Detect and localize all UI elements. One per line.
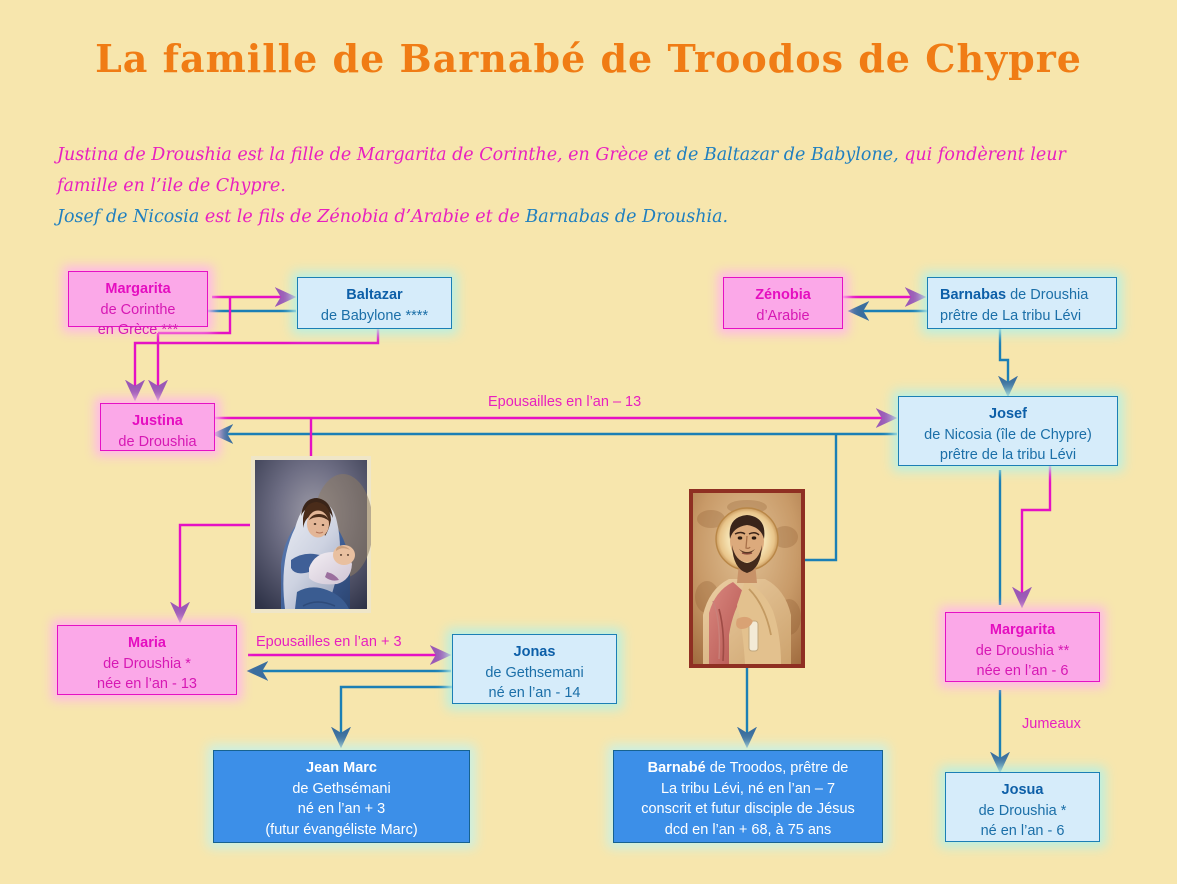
page-title: La famille de Barnabé de Troodos de Chyp… bbox=[0, 36, 1177, 81]
node-margarita-de-droushia[interactable]: Margarita de Droushia ** née en l’an - 6 bbox=[945, 612, 1100, 682]
node-name: Zénobia bbox=[732, 285, 834, 306]
edge-label-marriage-plus-3: Epousailles en l’an + 3 bbox=[256, 634, 402, 650]
node-name: Margarita bbox=[77, 279, 199, 300]
node-line2: d’Arabie bbox=[732, 306, 834, 327]
edge-label-marriage-minus-13: Epousailles en l’an – 13 bbox=[488, 394, 641, 410]
node-line3: prêtre de la tribu Lévi bbox=[907, 445, 1109, 466]
node-name: Josua bbox=[954, 780, 1091, 801]
node-line3: né en l’an + 3 bbox=[222, 799, 461, 820]
node-line4: (futur évangéliste Marc) bbox=[222, 820, 461, 841]
node-name: Josef bbox=[907, 404, 1109, 425]
node-line2: de Droushia * bbox=[954, 801, 1091, 822]
node-barnabas-de-droushia[interactable]: Barnabas de Droushia prêtre de La tribu … bbox=[927, 277, 1117, 329]
node-line2: de Droushia bbox=[109, 432, 206, 453]
node-line2: de Nicosia (île de Chypre) bbox=[907, 425, 1109, 446]
node-line3: né en l’an - 14 bbox=[461, 683, 608, 704]
node-margarita-de-corinthe[interactable]: Margarita de Corinthe en Grèce *** bbox=[68, 271, 208, 327]
node-line2: La tribu Lévi, né en l’an – 7 bbox=[622, 779, 874, 800]
node-line3: né en l’an - 6 bbox=[954, 821, 1091, 842]
node-line3: en Grèce *** bbox=[77, 320, 199, 341]
node-name: Margarita bbox=[954, 620, 1091, 641]
node-justina[interactable]: Justina de Droushia bbox=[100, 403, 215, 451]
intro-line1-part1: Justina de Droushia est la fille de Marg… bbox=[57, 145, 654, 165]
node-name-rest: de Droushia bbox=[1006, 287, 1088, 303]
intro-line2-part1: Josef de Nicosia bbox=[57, 207, 199, 227]
node-line3: née en l’an - 6 bbox=[954, 661, 1091, 682]
node-maria[interactable]: Maria de Droushia * née en l’an - 13 bbox=[57, 625, 237, 695]
node-jean-marc[interactable]: Jean Marc de Gethsémani né en l’an + 3 (… bbox=[213, 750, 470, 843]
node-baltazar[interactable]: Baltazar de Babylone **** bbox=[297, 277, 452, 329]
node-line1-rest: de Troodos, prêtre de bbox=[706, 760, 849, 776]
node-line1: Barnabé de Troodos, prêtre de bbox=[622, 758, 874, 779]
node-line2: de Gethsémani bbox=[222, 779, 461, 800]
node-name: Jean Marc bbox=[222, 758, 461, 779]
madonna-and-child-picture bbox=[251, 456, 371, 613]
intro-line1-part2: et de Baltazar de Babylone, bbox=[654, 145, 899, 165]
intro-line2-part2: est le fils de Zénobia d’Arabie et de bbox=[199, 207, 525, 227]
node-josua[interactable]: Josua de Droushia * né en l’an - 6 bbox=[945, 772, 1100, 842]
node-line2: prêtre de La tribu Lévi bbox=[940, 306, 1108, 327]
intro-line2-part3: Barnabas de Droushia. bbox=[525, 207, 728, 227]
node-name: Barnabas bbox=[940, 287, 1006, 303]
node-line2: de Gethsemani bbox=[461, 663, 608, 684]
node-jonas[interactable]: Jonas de Gethsemani né en l’an - 14 bbox=[452, 634, 617, 704]
node-line3: conscrit et futur disciple de Jésus bbox=[622, 799, 874, 820]
node-line4: dcd en l’an + 68, à 75 ans bbox=[622, 820, 874, 841]
node-name: Jonas bbox=[461, 642, 608, 663]
node-barnabe-de-troodos[interactable]: Barnabé de Troodos, prêtre de La tribu L… bbox=[613, 750, 883, 843]
node-line2: de Droushia ** bbox=[954, 641, 1091, 662]
node-line1: Barnabas de Droushia bbox=[940, 285, 1108, 306]
node-zenobia[interactable]: Zénobia d’Arabie bbox=[723, 277, 843, 329]
node-josef[interactable]: Josef de Nicosia (île de Chypre) prêtre … bbox=[898, 396, 1118, 466]
node-name: Maria bbox=[66, 633, 228, 654]
node-name: Baltazar bbox=[306, 285, 443, 306]
node-line2: de Corinthe bbox=[77, 300, 199, 321]
saint-barnabas-icon-picture bbox=[689, 489, 805, 668]
node-line2: de Babylone **** bbox=[306, 306, 443, 327]
edge-label-twins: Jumeaux bbox=[1022, 716, 1081, 732]
node-line2: de Droushia * bbox=[66, 654, 228, 675]
node-line3: née en l’an - 13 bbox=[66, 674, 228, 695]
node-name: Justina bbox=[109, 411, 206, 432]
intro-paragraph: Justina de Droushia est la fille de Marg… bbox=[57, 140, 1132, 233]
node-name: Barnabé bbox=[648, 760, 706, 776]
